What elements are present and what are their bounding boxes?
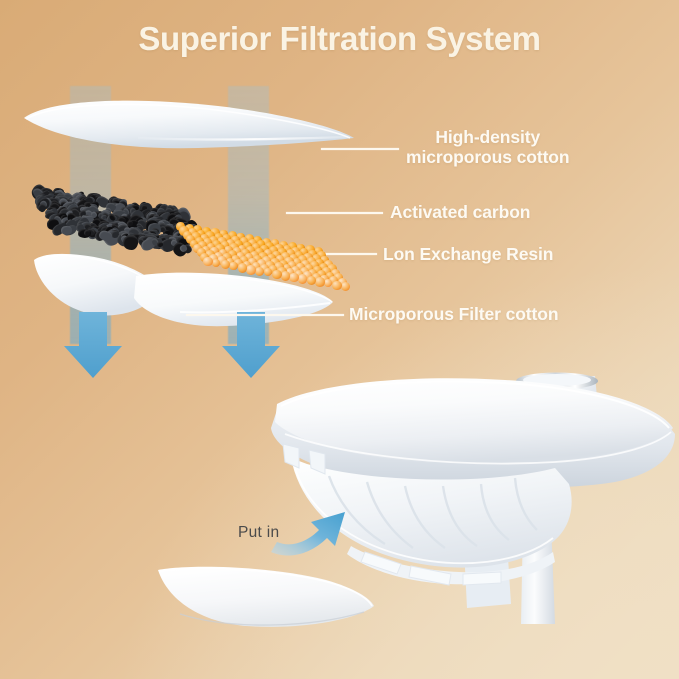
put-in-arrow xyxy=(271,512,345,556)
flow-arrow-right xyxy=(220,312,282,380)
infographic-poster: Superior Filtration System xyxy=(0,0,679,679)
label-high-density-microporous-cotton: High-density microporous cotton xyxy=(406,127,569,167)
label-ion-exchange-resin: Lon Exchange Resin xyxy=(383,244,553,264)
resin-bead xyxy=(315,277,325,287)
page-title: Superior Filtration System xyxy=(0,20,679,58)
layer-cotton-top xyxy=(18,92,358,172)
semicircular-filter-pad xyxy=(150,556,380,642)
leader-line-microporous-filter-cotton xyxy=(186,314,344,316)
resin-bead xyxy=(341,282,350,291)
resin-bead xyxy=(238,263,247,272)
leader-line-high-density-microporous-cotton xyxy=(321,148,399,150)
carbon-granule xyxy=(157,241,164,246)
put-in-label: Put in xyxy=(238,524,279,542)
label-activated-carbon: Activated carbon xyxy=(390,202,530,222)
resin-bead xyxy=(229,262,238,271)
flow-arrow-left xyxy=(62,312,124,380)
resin-bead xyxy=(272,270,282,280)
resin-bead xyxy=(203,257,212,266)
label-microporous-filter-cotton: Microporous Filter cotton xyxy=(349,304,558,324)
leader-line-activated-carbon xyxy=(286,212,383,214)
resin-bead xyxy=(332,281,342,291)
resin-bead xyxy=(246,265,256,275)
resin-bead xyxy=(307,276,316,285)
resin-bead xyxy=(289,273,298,282)
resin-bead xyxy=(281,271,291,281)
